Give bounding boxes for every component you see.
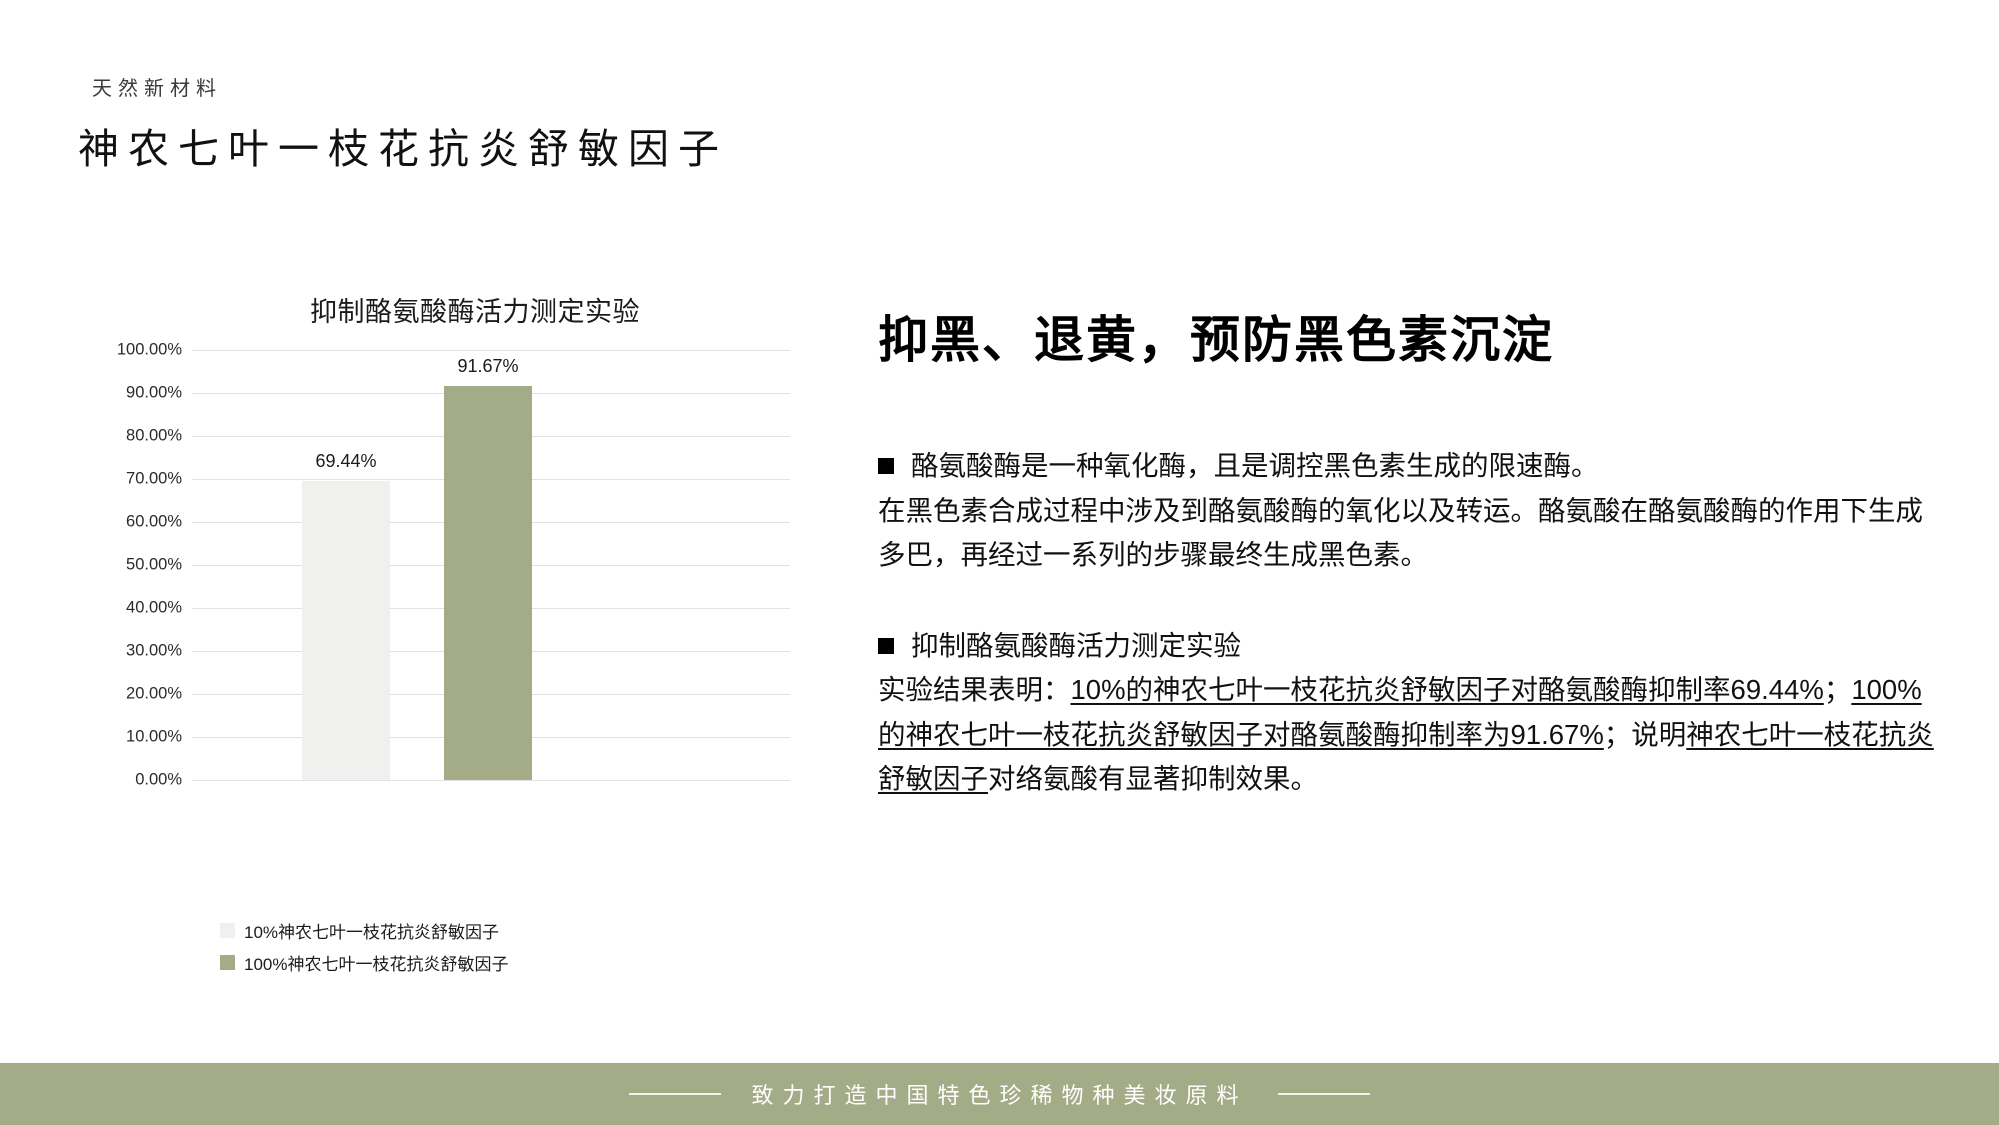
bar-value-label-1: 69.44% [266,451,426,472]
y-axis-tick-label: 40.00% [126,599,182,618]
legend-label: 100%神农七叶一枝花抗炎舒敏因子 [244,950,508,975]
content-column: 抑黑、退黄，预防黑色素沉淀 酪氨酸酶是一种氧化酶，且是调控黑色素生成的限速酶。 … [878,300,1938,848]
footer-rule-right [1278,1093,1370,1095]
y-axis-tick-label: 60.00% [126,513,182,532]
legend-swatch-icon [220,923,235,938]
page-title: 神农七叶一枝花抗炎舒敏因子 [78,115,978,175]
result-tail: 对络氨酸有显著抑制效果。 [988,763,1318,794]
bullet-block-1: 酪氨酸酶是一种氧化酶，且是调控黑色素生成的限速酶。 在黑色素合成过程中涉及到酪氨… [878,444,1938,578]
y-axis-tick-label: 0.00% [135,771,182,790]
result-highlight-1: 10%的神农七叶一枝花抗炎舒敏因子对酪氨酸酶抑制率69.44% [1071,674,1824,705]
bullet-text-2: 抑制酪氨酸酶活力测定实验 [911,624,1241,669]
slide-footer: 致力打造中国特色珍稀物种美妆原料 [0,1063,1999,1125]
square-bullet-icon [878,458,894,474]
y-axis-tick-label: 80.00% [126,427,182,446]
legend-item-1: 10%神农七叶一枝花抗炎舒敏因子 [220,918,740,943]
bar-value-label-2: 91.67% [408,356,568,377]
legend-label: 10%神农七叶一枝花抗炎舒敏因子 [244,918,499,943]
gridline [192,780,790,781]
y-axis-tick-label: 90.00% [126,384,182,403]
result-prefix: 实验结果表明： [878,674,1071,705]
footer-tagline: 致力打造中国特色珍稀物种美妆原料 [751,1078,1247,1110]
chart-plot-area: 100.00%90.00%80.00%70.00%60.00%50.00%40.… [80,350,800,780]
footer-rule-left [629,1093,721,1095]
bar-1 [302,481,390,780]
bullet-text-1: 酪氨酸酶是一种氧化酶，且是调控黑色素生成的限速酶。 [911,444,1599,489]
y-axis-tick-label: 10.00% [126,728,182,747]
square-bullet-icon [878,638,894,654]
bar-2 [444,386,532,780]
y-axis: 100.00%90.00%80.00%70.00%60.00%50.00%40.… [80,350,190,780]
paragraph-2: 实验结果表明：10%的神农七叶一枝花抗炎舒敏因子对酪氨酸酶抑制率69.44%；1… [878,668,1938,802]
eyebrow-label: 天然新材料 [92,72,978,101]
result-sep-1: ； [1824,674,1852,705]
content-heading: 抑黑、退黄，预防黑色素沉淀 [878,300,1938,372]
bullet-line-2: 抑制酪氨酸酶活力测定实验 [878,624,1938,669]
paragraph-1: 在黑色素合成过程中涉及到酪氨酸酶的氧化以及转运。酪氨酸在酪氨酸酶的作用下生成多巴… [878,489,1938,578]
slide-header: 天然新材料 神农七叶一枝花抗炎舒敏因子 [78,72,978,175]
y-axis-tick-label: 30.00% [126,642,182,661]
chart-bars: 69.44%91.67% [192,350,632,780]
chart-title: 抑制酪氨酸酶活力测定实验 [80,290,800,329]
tyrosinase-inhibition-chart: 抑制酪氨酸酶活力测定实验 100.00%90.00%80.00%70.00%60… [80,290,800,1010]
legend-swatch-icon [220,955,235,970]
y-axis-tick-label: 70.00% [126,470,182,489]
bullet-line-1: 酪氨酸酶是一种氧化酶，且是调控黑色素生成的限速酶。 [878,444,1938,489]
y-axis-tick-label: 100.00% [117,341,182,360]
result-sep-2: ；说明 [1604,719,1687,750]
y-axis-tick-label: 50.00% [126,556,182,575]
chart-legend: 10%神农七叶一枝花抗炎舒敏因子100%神农七叶一枝花抗炎舒敏因子 [220,918,740,982]
bullet-block-2: 抑制酪氨酸酶活力测定实验 实验结果表明：10%的神农七叶一枝花抗炎舒敏因子对酪氨… [878,624,1938,802]
y-axis-tick-label: 20.00% [126,685,182,704]
legend-item-2: 100%神农七叶一枝花抗炎舒敏因子 [220,950,740,975]
